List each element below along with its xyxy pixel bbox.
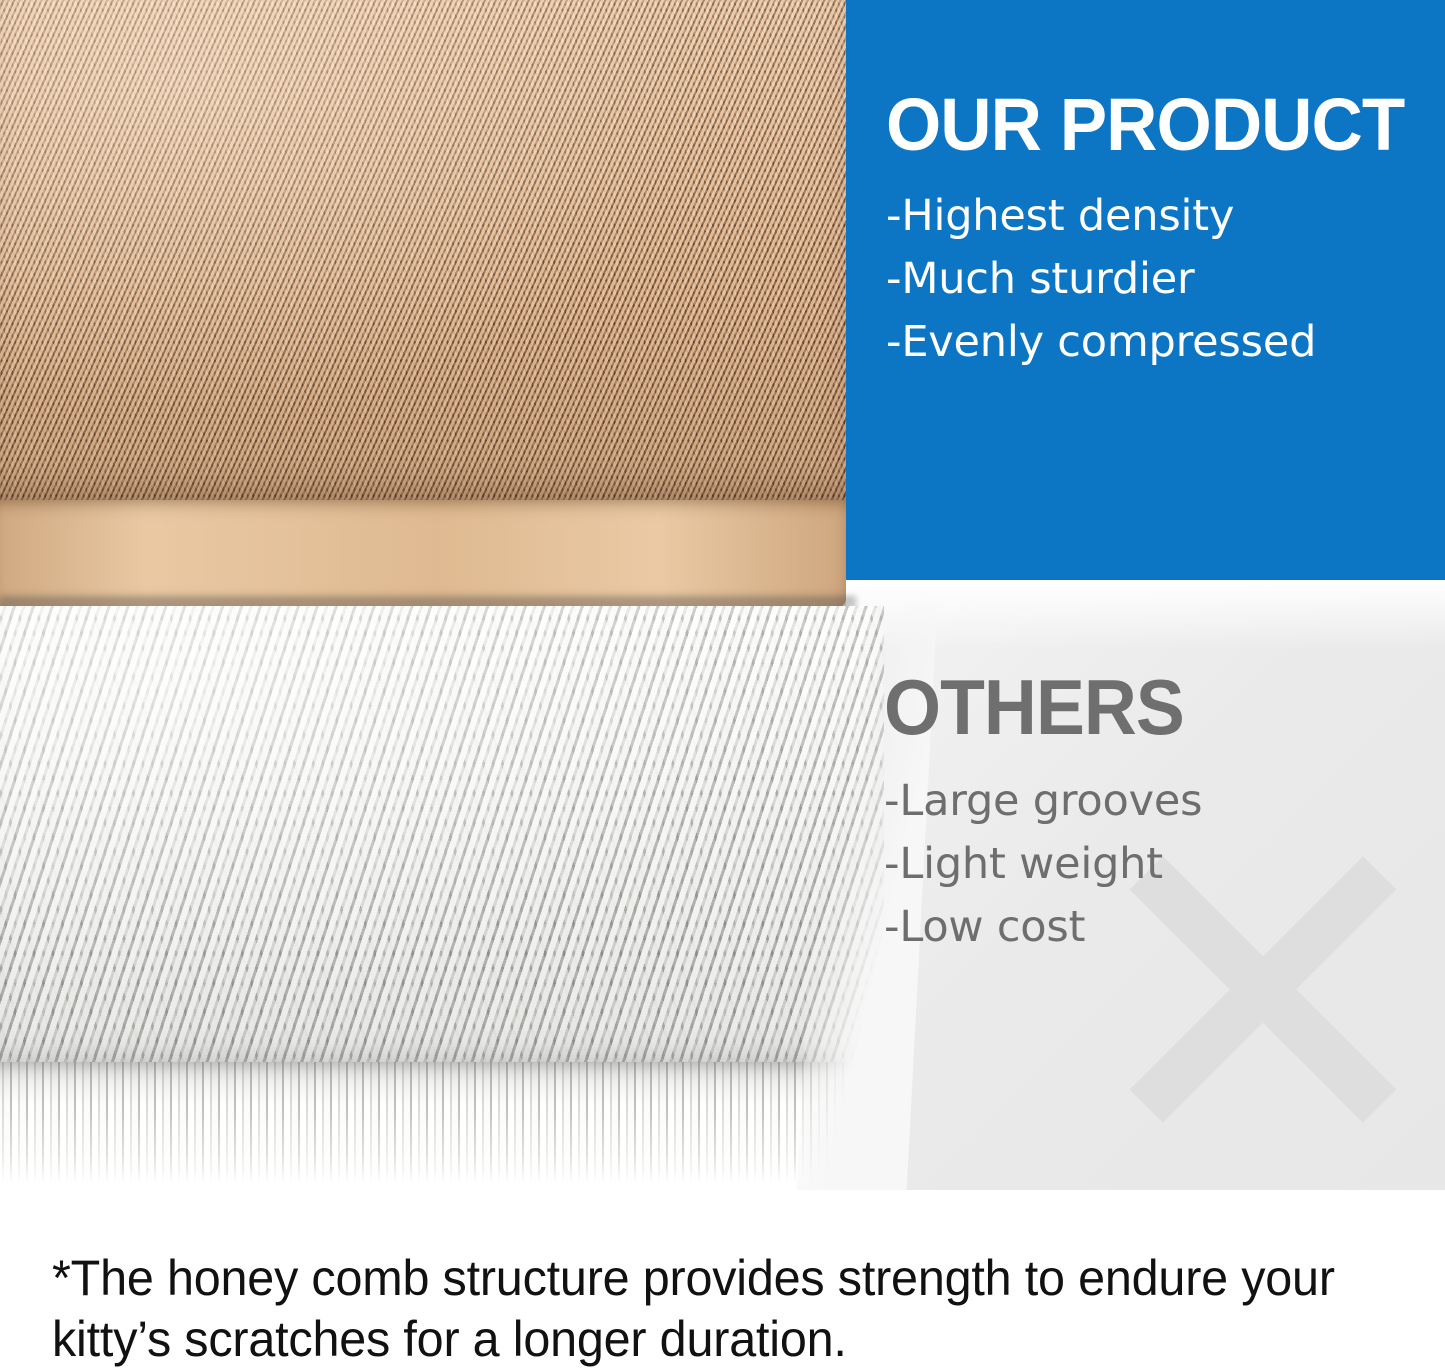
our-product-bullet-1: -Highest density <box>886 185 1426 248</box>
others-text-block: OTHERS -Large grooves -Light weight -Low… <box>884 672 1444 959</box>
others-bullet-1: -Large grooves <box>884 770 1444 833</box>
white-board-front-edge <box>0 1062 884 1184</box>
others-bullet-2: -Light weight <box>884 833 1444 896</box>
our-product-bullet-2: -Much sturdier <box>886 248 1426 311</box>
our-product-honeycomb-photo <box>0 0 846 608</box>
white-board-top-face <box>0 606 884 1068</box>
brown-board-top-face <box>0 0 846 506</box>
our-product-bullet-list: -Highest density -Much sturdier -Evenly … <box>886 185 1426 375</box>
infographic-canvas: OUR PRODUCT -Highest density -Much sturd… <box>0 0 1445 1371</box>
our-product-bullet-3: -Evenly compressed <box>886 311 1426 374</box>
others-heading: OTHERS <box>884 672 1410 744</box>
brown-board-front-edge <box>0 500 846 608</box>
our-product-text-block: OUR PRODUCT -Highest density -Much sturd… <box>886 92 1426 374</box>
others-bullet-3: -Low cost <box>884 896 1444 959</box>
our-product-heading: OUR PRODUCT <box>886 92 1404 159</box>
footnote-text: *The honey comb structure provides stren… <box>52 1248 1367 1370</box>
others-honeycomb-photo <box>0 606 884 1190</box>
others-bullet-list: -Large grooves -Light weight -Low cost <box>884 770 1444 960</box>
